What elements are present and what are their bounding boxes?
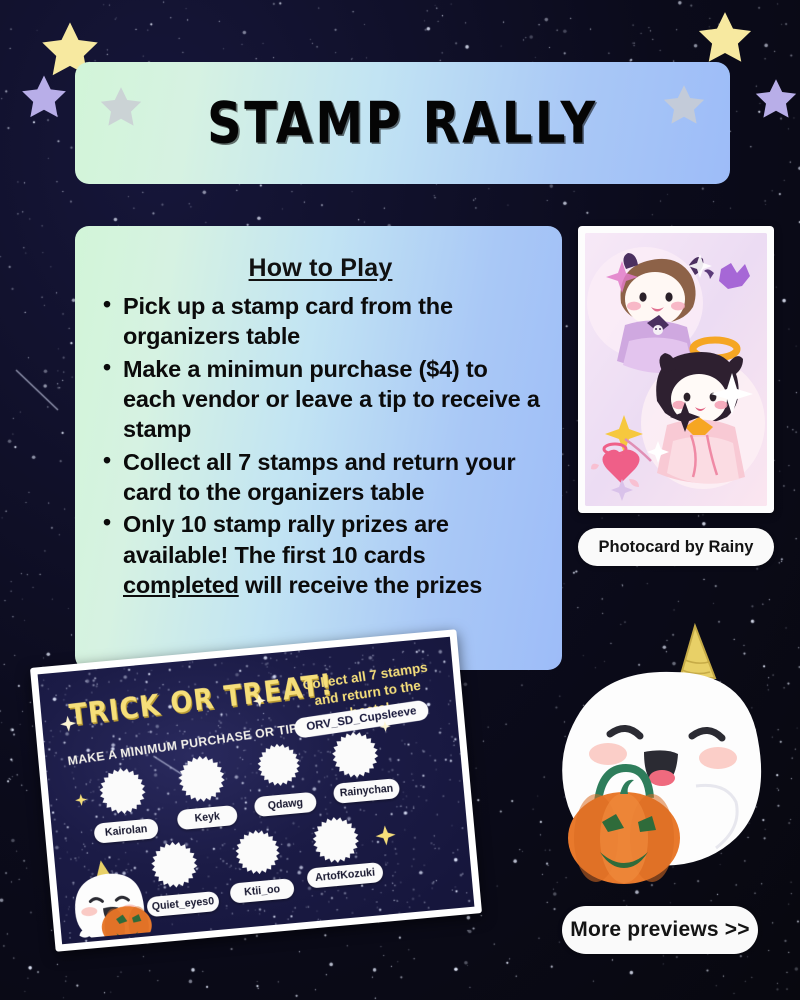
stamp-slot[interactable]: [233, 827, 283, 877]
decor-star-grey-panel-left: [97, 84, 145, 132]
rule-item: Collect all 7 stamps and return your car…: [97, 447, 544, 508]
card-sparkle-icon: [379, 719, 392, 738]
photocard-caption: Photocard by Rainy: [578, 528, 774, 566]
stamp-slot[interactable]: [96, 765, 148, 817]
rule-item: Only 10 stamp rally prizes are available…: [97, 509, 544, 600]
card-sparkle-icon: [75, 792, 89, 811]
rule-text-underlined: completed: [123, 572, 239, 598]
poster-stage: STAMP RALLY How to Play Pick up a stamp …: [0, 0, 800, 1000]
decor-star-grey-panel-right: [660, 82, 708, 130]
decor-star-yellow-topright: [694, 8, 756, 70]
card-sparkle-icon: [59, 715, 77, 737]
card-sparkle-icon: [252, 694, 267, 713]
rule-text-part1: Only 10 stamp rally prizes are available…: [123, 511, 449, 567]
rule-item: Make a minimun purchase ($4) to each ven…: [97, 354, 544, 445]
how-to-play-heading: How to Play: [97, 254, 544, 283]
stamp-card-preview[interactable]: TRICK OR TREAT! MAKE A MINIMUM PURCHASE …: [30, 629, 482, 952]
stamp-slot[interactable]: [310, 814, 362, 866]
photocard-illustration: [585, 233, 767, 506]
card-sparkle-icon: [375, 825, 397, 852]
rule-text-part2: will receive the prizes: [239, 572, 482, 598]
stamp-slot[interactable]: [176, 753, 228, 805]
photocard-artwork: [585, 233, 767, 506]
title-panel: STAMP RALLY: [75, 62, 730, 184]
stamp-slot[interactable]: [148, 839, 200, 891]
how-to-play-panel: How to Play Pick up a stamp card from th…: [75, 226, 562, 670]
ghost-mascot-icon: [552, 612, 792, 887]
page-title: STAMP RALLY: [207, 89, 598, 156]
rules-list: Pick up a stamp card from the organizers…: [97, 291, 544, 600]
decor-star-purple-topright: [752, 76, 800, 124]
card-ghost-icon: [65, 854, 158, 939]
stamp-card-inner: TRICK OR TREAT! MAKE A MINIMUM PURCHASE …: [38, 637, 475, 944]
photocard-preview[interactable]: [578, 226, 774, 513]
stamp-slot[interactable]: [329, 729, 381, 781]
stamp-slot[interactable]: [255, 741, 303, 789]
rule-item: Pick up a stamp card from the organizers…: [97, 291, 544, 352]
more-previews-button[interactable]: More previews >>: [562, 906, 758, 954]
